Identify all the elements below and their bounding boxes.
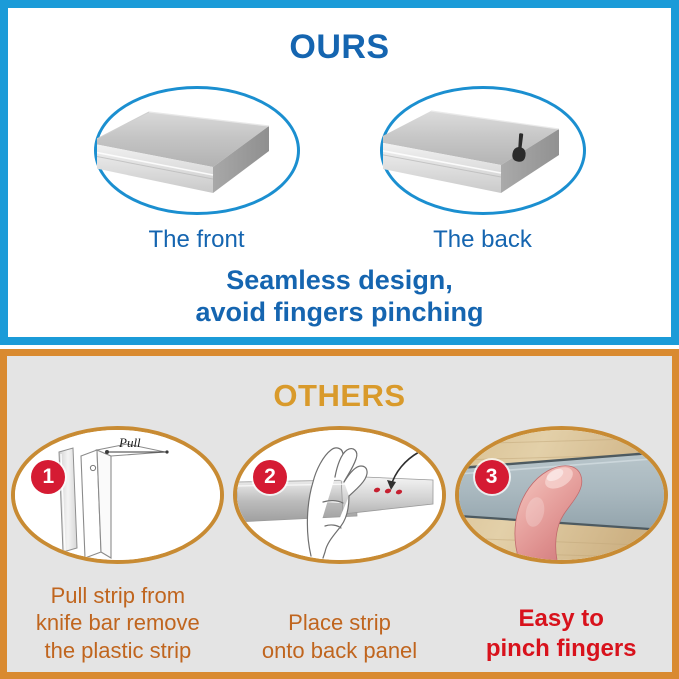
pull-strip-diagram-icon: Pull [15,430,220,560]
others-step-3: 3 [452,426,670,564]
ours-figure-back: The back [368,86,598,253]
pinched-finger-photo-icon [459,430,664,560]
step-1-caption-line3: the plastic strip [7,637,229,665]
step-2-number-badge: 2 [253,460,287,494]
step-1-caption-line2: knife bar remove [7,609,229,637]
ours-title: OURS [8,30,671,64]
step-1-caption: Pull strip from knife bar remove the pla… [7,582,229,665]
ours-front-caption: The front [148,227,244,253]
hand-placing-strip-diagram-icon [237,430,442,560]
others-title: OTHERS [7,380,672,411]
step-1-oval-frame: 1 [11,426,224,564]
step-3-caption: Easy to pinch fingers [450,604,672,664]
step-3-caption-line1: Easy to [450,604,672,634]
pull-label: Pull [118,435,141,450]
others-panel: OTHERS 1 [0,349,679,679]
comparison-infographic: OURS [0,0,679,679]
step-1-caption-line1: Pull strip from [7,582,229,610]
step-3-oval-frame: 3 [455,426,668,564]
ours-panel: OURS [0,0,679,345]
knife-bar-back-keyhole-icon [383,89,583,212]
knife-bar-front-icon [97,89,297,212]
others-step-row: 1 [7,426,672,564]
step-2-oval-frame: 2 [233,426,446,564]
ours-figure-row: The front [8,86,671,253]
ours-tagline: Seamless design, avoid fingers pinching [8,264,671,329]
ours-front-oval-frame [94,86,300,215]
step-2-caption-line1: Place strip [229,609,451,637]
others-step-2: 2 [230,426,448,564]
ours-figure-front: The front [82,86,312,253]
step-3-number-badge: 3 [475,460,509,494]
ours-tagline-line2: avoid fingers pinching [8,296,671,328]
step-3-caption-line2: pinch fingers [450,634,672,664]
step-2-caption-line2: onto back panel [229,637,451,665]
others-step-1: 1 [9,426,227,564]
step-2-caption: Place strip onto back panel [229,609,451,664]
ours-tagline-line1: Seamless design, [226,265,453,295]
ours-back-oval-frame [380,86,586,215]
ours-back-caption: The back [433,227,532,253]
others-caption-row: Pull strip from knife bar remove the pla… [7,582,672,665]
